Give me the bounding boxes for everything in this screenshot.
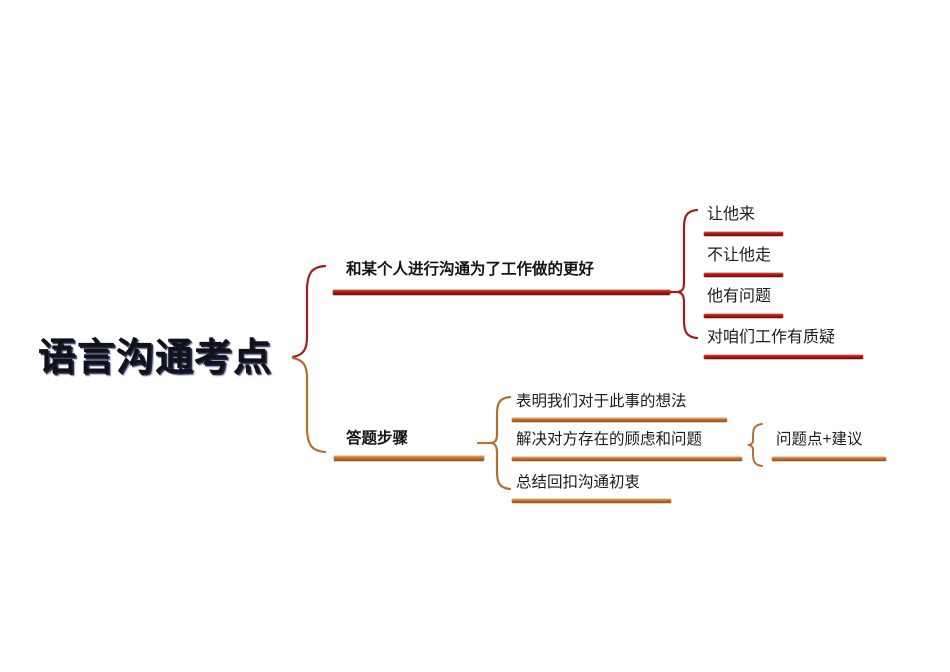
resolve-concerns-brace	[749, 424, 762, 466]
branch-label-answer-steps[interactable]: 答题步骤	[346, 431, 408, 447]
leaf-underline-he-has-problem	[704, 314, 783, 318]
leaf-label-dont-let-him-go[interactable]: 不让他走	[707, 248, 771, 264]
leaf-label-he-has-problem[interactable]: 他有问题	[707, 289, 771, 305]
mindmap-canvas: 语言沟通考点 和某个人进行沟通为了工作做的更好 让他来 不让他走 他有问题 对咱…	[0, 0, 950, 672]
branch1-children-brace	[678, 210, 697, 338]
step-underline-state-our-thoughts	[512, 418, 727, 422]
leaf-underline-let-him-come	[704, 232, 783, 236]
branch-underline-communication-purpose	[333, 290, 670, 295]
leaf-label-doubts-our-work[interactable]: 对咱们工作有质疑	[707, 330, 835, 346]
leaf-underline-dont-let-him-go	[704, 273, 783, 277]
sub-step-underline-issue-plus-suggestion	[772, 457, 886, 461]
sub-step-label-issue-plus-suggestion[interactable]: 问题点+建议	[776, 432, 863, 448]
root-title: 语言沟通考点	[38, 339, 272, 377]
root-brace-upper	[293, 266, 325, 357]
root-brace-lower	[293, 358, 325, 452]
leaf-label-let-him-come[interactable]: 让他来	[707, 207, 755, 223]
step-underline-summarize-intent	[512, 499, 671, 503]
step-underline-resolve-concerns	[512, 457, 742, 461]
step-label-resolve-concerns[interactable]: 解决对方存在的顾虑和问题	[516, 432, 702, 448]
step-label-state-our-thoughts[interactable]: 表明我们对于此事的想法	[516, 394, 687, 410]
leaf-underline-doubts-our-work	[704, 355, 863, 359]
branch2-children-brace	[492, 397, 510, 489]
branch-label-communication-purpose[interactable]: 和某个人进行沟通为了工作做的更好	[346, 262, 594, 278]
branch-underline-answer-steps	[334, 456, 484, 461]
step-label-summarize-intent[interactable]: 总结回扣沟通初衷	[516, 475, 640, 491]
